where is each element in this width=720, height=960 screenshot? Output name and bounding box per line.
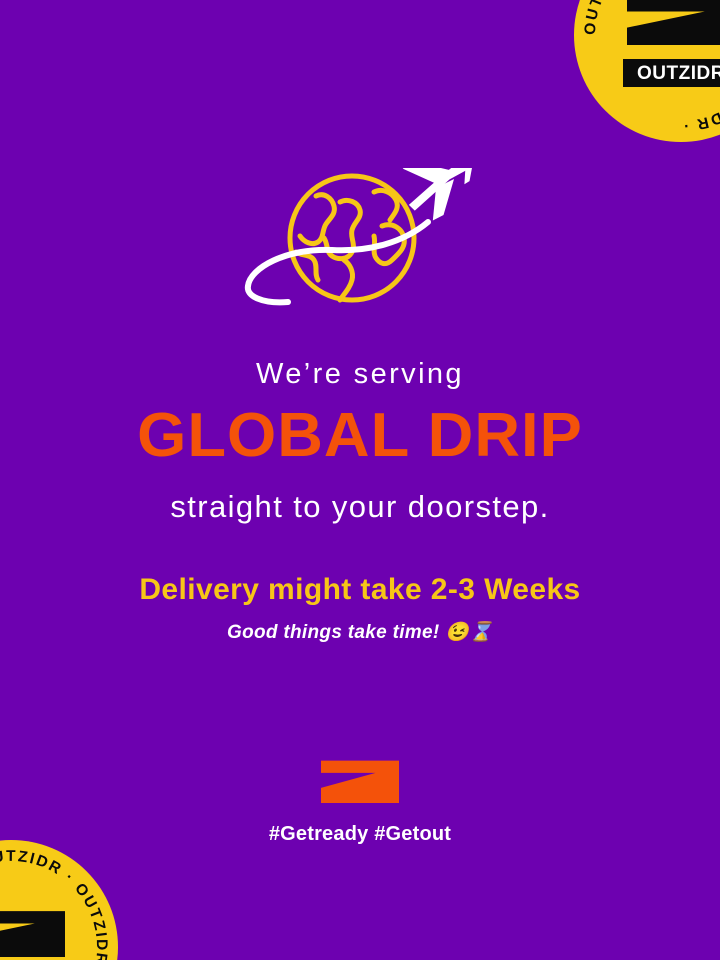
brand-logo-z-icon xyxy=(321,745,399,803)
badge-wordmark-top-right: OUTZIDR xyxy=(623,59,720,87)
poster-copy-block: We’re serving GLOBAL DRIP straight to yo… xyxy=(0,358,720,645)
brand-badge-top-right: OUTZIDR · OUTZIDR · OUTZIDR · OUTZIDR · … xyxy=(574,0,720,142)
page-title: GLOBAL DRIP xyxy=(0,405,720,467)
poster-footer: #Getready #Getout xyxy=(0,745,720,846)
globe-airplane-illustration xyxy=(0,168,720,328)
brand-badge-bottom-left: OUTZIDR · OUTZIDR · OUTZIDR · OUTZIDR · … xyxy=(0,840,118,960)
promo-poster: OUTZIDR · OUTZIDR · OUTZIDR · OUTZIDR · … xyxy=(0,0,720,960)
z-mark-icon xyxy=(0,895,65,957)
reassurance-text: Good things take time! 😉⌛ xyxy=(0,622,720,645)
eyebrow-text: We’re serving xyxy=(0,358,720,391)
badge-core-top-right: OUTZIDR xyxy=(627,0,720,87)
delivery-notice-text: Delivery might take 2-3 Weeks xyxy=(0,573,720,606)
z-mark-icon xyxy=(627,0,720,45)
airplane-icon xyxy=(390,168,480,228)
badge-core-bottom-left: OUTZIDR xyxy=(0,895,65,960)
subtitle-text: straight to your doorstep. xyxy=(0,489,720,525)
